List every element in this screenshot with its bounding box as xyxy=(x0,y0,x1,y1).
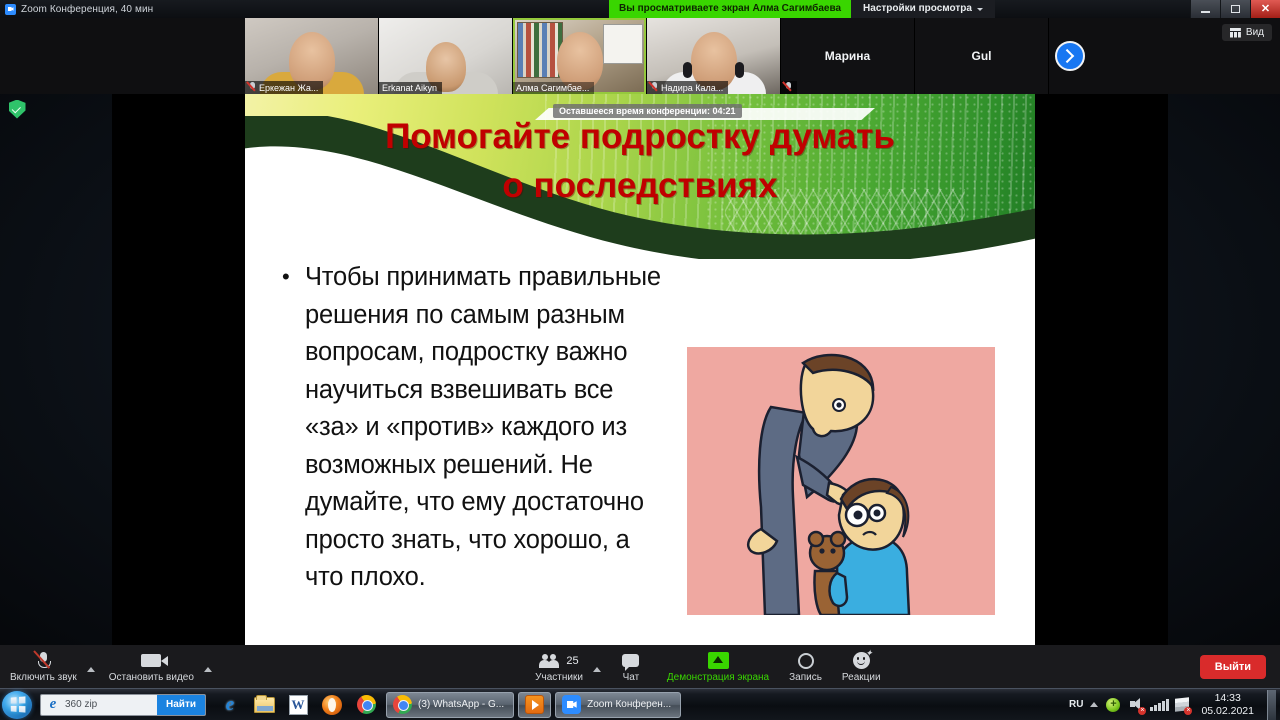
participant-tile[interactable]: Надира Кала... xyxy=(647,18,781,94)
shield-icon[interactable] xyxy=(6,98,28,120)
chat-button[interactable]: Чат xyxy=(605,648,657,685)
zoom-toolbar: Включить звук Остановить видео 25 Участн… xyxy=(0,645,1280,688)
headset-icon xyxy=(735,62,744,78)
slide-body: Чтобы принимать правильные решения по са… xyxy=(245,259,1035,645)
mic-muted-icon xyxy=(650,82,658,93)
system-tray: RU + × × 14:33 05.02.2021 xyxy=(1069,690,1280,720)
record-icon xyxy=(798,651,814,670)
record-button[interactable]: Запись xyxy=(779,648,832,685)
chrome-icon xyxy=(393,695,412,714)
participant-name: Надира Кала... xyxy=(661,83,723,93)
slide-title-line-2: о последствиях xyxy=(245,161,1035,210)
screen: Zoom Конференция, 40 мин Вы просматривае… xyxy=(0,0,1280,720)
network-icon[interactable] xyxy=(1151,697,1167,713)
zoom-title-bar: Zoom Конференция, 40 мин Вы просматривае… xyxy=(0,0,1280,18)
search-button[interactable]: Найти xyxy=(157,694,205,716)
participants-button-label: Участники xyxy=(535,672,583,683)
video-button-label: Остановить видео xyxy=(109,672,194,683)
participants-count: 25 xyxy=(566,655,578,667)
share-screen-button[interactable]: Демонстрация экрана xyxy=(657,648,779,685)
clock-date: 05.02.2021 xyxy=(1201,705,1254,718)
participant-tile[interactable]: Марина xyxy=(781,18,915,94)
internet-explorer-icon: e xyxy=(44,696,62,714)
view-button-label: Вид xyxy=(1246,27,1264,38)
window-controls: ✕ xyxy=(1184,0,1280,18)
presentation-slide: Помогайте подростку думать о последствия… xyxy=(245,94,1035,645)
participant-name-badge: Алма Сагимбае... xyxy=(513,82,594,94)
participant-name: Еркежан Жа... xyxy=(259,83,318,93)
cartoon-adult-and-child xyxy=(687,347,995,615)
slide-illustration xyxy=(687,347,995,615)
search-input[interactable]: 360 zip xyxy=(65,699,157,710)
maximize-button[interactable] xyxy=(1220,0,1250,18)
start-button-icon[interactable] xyxy=(2,691,32,719)
participant-name: Gul xyxy=(915,18,1048,94)
grid-icon xyxy=(1230,28,1241,38)
internet-explorer-icon[interactable]: e xyxy=(214,691,246,719)
share-screen-icon xyxy=(708,651,729,670)
window-title: Zoom Конференция, 40 мин xyxy=(21,4,153,15)
mic-muted-icon xyxy=(248,82,256,93)
slide-title: Помогайте подростку думать о последствия… xyxy=(245,112,1035,210)
zoom-icon xyxy=(5,4,16,15)
share-screen-button-label: Демонстрация экрана xyxy=(667,672,769,683)
close-button[interactable]: ✕ xyxy=(1250,0,1280,18)
mic-muted-icon xyxy=(36,651,51,670)
language-indicator[interactable]: RU xyxy=(1069,699,1083,710)
participant-strip: Еркежан Жа... Erkanat Aikyn Алма Сагимба… xyxy=(0,18,1280,94)
participant-name-badge: Еркежан Жа... xyxy=(245,81,323,94)
meeting-timer: Оставшееся время конференции: 04:21 xyxy=(553,104,742,118)
file-explorer-icon[interactable] xyxy=(248,691,280,719)
show-desktop-button[interactable] xyxy=(1267,690,1276,720)
participants-button[interactable]: 25 Участники xyxy=(525,648,593,685)
taskbar-window-media-player[interactable] xyxy=(518,692,551,718)
antivirus-icon[interactable]: + xyxy=(1105,697,1121,713)
share-banner: Вы просматриваете экран Алма Сагимбаева xyxy=(609,0,851,18)
mute-button-label: Включить звук xyxy=(10,672,77,683)
next-participants-button[interactable] xyxy=(1049,18,1091,94)
participant-tile[interactable]: Gul xyxy=(915,18,1049,94)
leave-meeting-button[interactable]: Выйти xyxy=(1200,655,1266,679)
participant-tile[interactable]: Erkanat Aikyn xyxy=(379,18,513,94)
show-hidden-icons-icon[interactable] xyxy=(1090,702,1098,707)
participants-icon: 25 xyxy=(539,651,578,670)
chrome-icon[interactable] xyxy=(350,691,382,719)
video-options-chevron-icon[interactable] xyxy=(204,667,212,672)
taskbar-window-label: (3) WhatsApp - G... xyxy=(418,699,504,710)
participant-name: Erkanat Aikyn xyxy=(382,83,437,93)
strip-right-area: Вид xyxy=(1091,18,1280,94)
view-settings-label: Настройки просмотра xyxy=(863,2,972,16)
slide-text-column: Чтобы принимать правильные решения по са… xyxy=(245,259,665,645)
clock-time: 14:33 xyxy=(1201,692,1254,705)
strip-left-padding xyxy=(0,18,245,94)
slide-title-line-1: Помогайте подростку думать xyxy=(245,112,1035,161)
view-button[interactable]: Вид xyxy=(1222,24,1272,41)
reactions-button-label: Реакции xyxy=(842,672,881,683)
headset-icon xyxy=(683,62,692,78)
minimize-button[interactable] xyxy=(1190,0,1220,18)
mic-muted-icon xyxy=(784,82,792,93)
toolbar-left-group: Включить звук Остановить видео xyxy=(0,648,216,685)
word-icon[interactable]: W xyxy=(282,691,314,719)
participant-name-badge xyxy=(781,81,797,94)
taskbar-clock[interactable]: 14:33 05.02.2021 xyxy=(1197,692,1258,718)
media-player-icon xyxy=(525,695,544,714)
shared-screen-area: Помогайте подростку думать о последствия… xyxy=(112,94,1168,645)
record-button-label: Запись xyxy=(789,672,822,683)
taskbar-window-whatsapp[interactable]: (3) WhatsApp - G... xyxy=(386,692,514,718)
volume-muted-icon[interactable]: × xyxy=(1128,697,1144,713)
reactions-button[interactable]: ✦ Реакции xyxy=(832,648,891,685)
chat-icon xyxy=(622,651,639,670)
taskbar-window-label: Zoom Конферен... xyxy=(587,699,671,710)
participant-name-badge: Надира Кала... xyxy=(647,81,728,94)
title-bar-center: Вы просматриваете экран Алма Сагимбаева … xyxy=(420,0,1184,18)
participant-name: Алма Сагимбае... xyxy=(516,83,589,93)
video-button[interactable]: Остановить видео xyxy=(99,648,204,685)
title-bar-left: Zoom Конференция, 40 мин xyxy=(0,4,420,15)
windows-taskbar: e 360 zip Найти e W (3) WhatsApp - G... … xyxy=(0,688,1280,720)
chevron-down-icon xyxy=(977,8,983,11)
mute-button[interactable]: Включить звук xyxy=(0,648,87,685)
participant-tile[interactable]: Еркежан Жа... xyxy=(245,18,379,94)
view-settings-button[interactable]: Настройки просмотра xyxy=(851,0,995,18)
action-center-icon[interactable]: × xyxy=(1174,697,1190,713)
whiteboard-background xyxy=(603,24,643,64)
camera-icon xyxy=(141,651,161,670)
participant-tile-active-speaker[interactable]: Алма Сагимбае... xyxy=(513,18,647,94)
slide-header-banner: Помогайте подростку думать о последствия… xyxy=(245,94,1035,259)
taskbar-window-zoom[interactable]: Zoom Конферен... xyxy=(555,692,681,718)
zoom-icon xyxy=(562,695,581,714)
audio-options-chevron-icon[interactable] xyxy=(87,667,95,672)
participant-name: Марина xyxy=(781,18,914,94)
toolbar-center-group: 25 Участники Чат Демонстрация экрана Зап… xyxy=(525,648,890,685)
slide-image-column xyxy=(665,259,1035,645)
quick-launch-bar: e W xyxy=(214,691,382,719)
reactions-icon: ✦ xyxy=(853,651,870,670)
participant-name-badge: Erkanat Aikyn xyxy=(379,82,442,94)
chat-button-label: Чат xyxy=(623,672,640,683)
slide-bullet-text: Чтобы принимать правильные решения по са… xyxy=(277,259,665,597)
opera-icon[interactable] xyxy=(316,691,348,719)
taskbar-search-box[interactable]: e 360 zip Найти xyxy=(40,694,206,716)
participants-options-chevron-icon[interactable] xyxy=(593,667,601,672)
chevron-right-icon xyxy=(1055,41,1085,71)
